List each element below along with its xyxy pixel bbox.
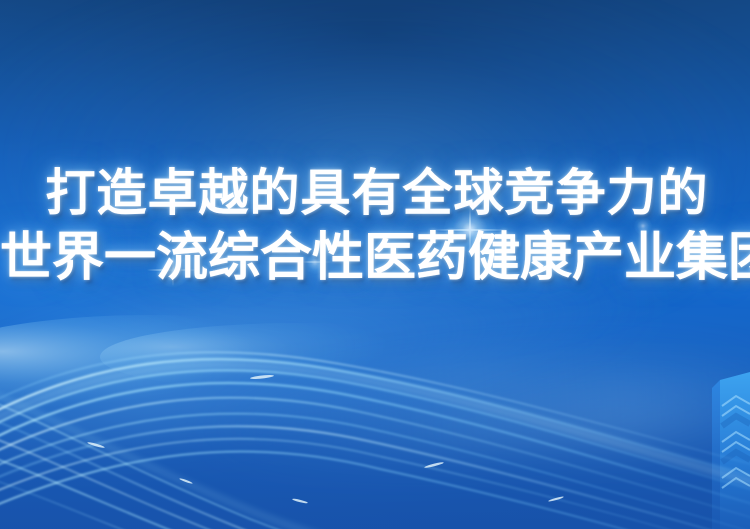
headline-line-2: 世界一流综合性医药健康产业集团 [0,232,750,284]
headline-line-1-text: 打造卓越的具有全球竞争力的 [46,164,709,222]
headline-line-2-text: 世界一流综合性医药健康产业集团 [0,228,750,288]
banner-canvas: 打造卓越的具有全球竞争力的 世界一流综合性医药健康产业集团 [0,0,750,529]
flowing-light-streaks [0,269,750,529]
headline-line-1: 打造卓越的具有全球竞争力的 [0,168,750,218]
headline-block: 打造卓越的具有全球竞争力的 世界一流综合性医药健康产业集团 [0,168,750,284]
